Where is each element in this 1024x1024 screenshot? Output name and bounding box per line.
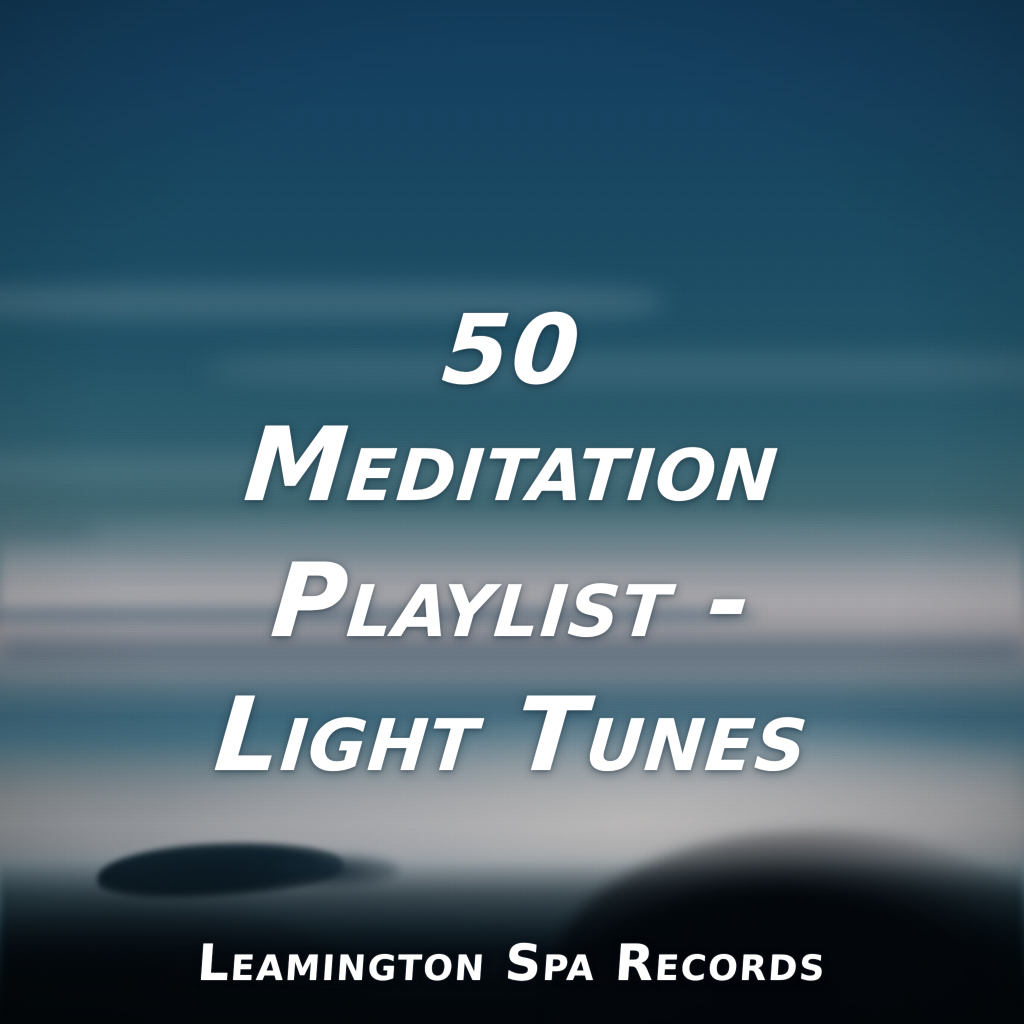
album-cover: 50 Meditation Playlist - Light Tunes Lea… <box>0 0 1024 1024</box>
title-line-light-tunes: Light Tunes <box>0 682 1024 790</box>
title-line-playlist: Playlist - <box>0 548 1024 656</box>
title-line-meditation: Meditation <box>0 412 1024 520</box>
title-line-count: 50 <box>0 300 1024 402</box>
record-label-credit: Leamington Spa Records <box>0 934 1024 992</box>
text-overlay: 50 Meditation Playlist - Light Tunes Lea… <box>0 0 1024 1024</box>
album-title: 50 Meditation Playlist - Light Tunes <box>0 300 1024 790</box>
